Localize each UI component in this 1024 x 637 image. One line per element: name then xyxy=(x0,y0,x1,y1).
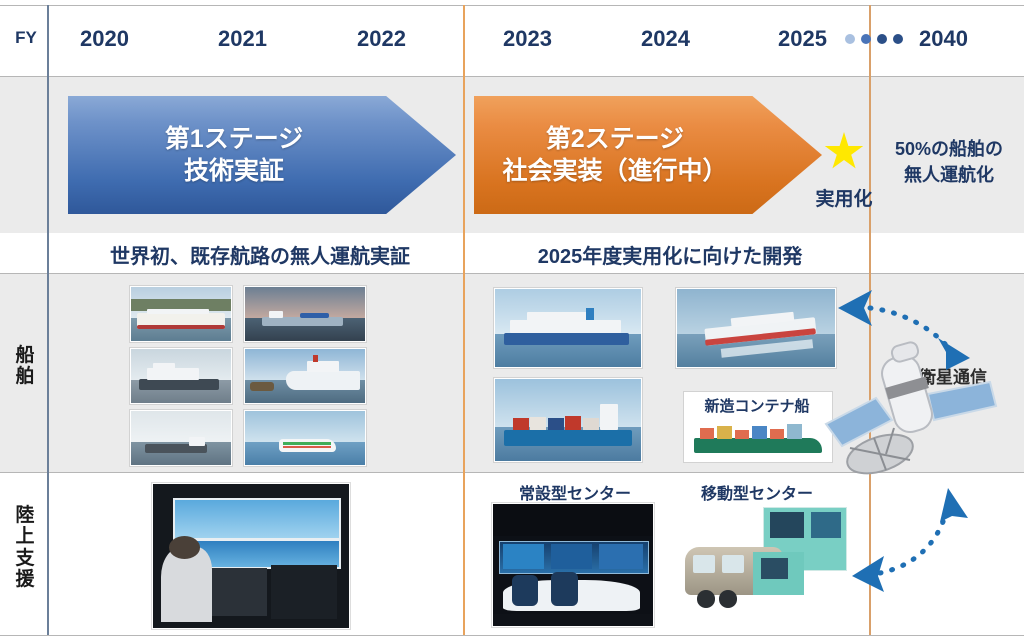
ship-photo-water-bus xyxy=(244,410,366,466)
year-2021: 2021 xyxy=(218,26,267,52)
row-label-shore: 陸 上 支 援 xyxy=(6,505,44,590)
satellite-communication-label: 衛星通信 xyxy=(893,363,1013,388)
year-2025: 2025 xyxy=(778,26,827,52)
divider-2025 xyxy=(869,5,871,635)
ellipsis-dot xyxy=(893,34,903,44)
ship-photo-imoto-lines-container-ship xyxy=(494,378,642,462)
mobile-trailer-center-photo xyxy=(678,505,848,623)
mobile-center-label: 移動型センター xyxy=(672,480,842,504)
row-label-char: 上 xyxy=(6,526,44,547)
fy-label: FY xyxy=(8,28,44,48)
stage-1-title: 第1ステージ 技術実証 xyxy=(165,123,303,188)
row-label-char: 援 xyxy=(6,569,44,590)
ship-photo-large-white-ferry xyxy=(244,348,366,404)
row-label-char: 舶 xyxy=(6,366,44,387)
stage-1-caption: 世界初、既存航路の無人運航実証 xyxy=(60,240,460,269)
ellipsis-dot xyxy=(845,34,855,44)
operation-center-interior-photo xyxy=(492,503,654,627)
stage-1-arrow: 第1ステージ 技術実証 xyxy=(68,96,456,214)
ship-photo-large-passenger-ferry xyxy=(494,288,642,368)
row-label-char: 支 xyxy=(6,548,44,569)
year-2022: 2022 xyxy=(357,26,406,52)
year-2040: 2040 xyxy=(919,26,968,52)
divider-fy-column xyxy=(47,5,49,635)
ellipsis-dot xyxy=(861,34,871,44)
divider-stage-split xyxy=(463,5,465,635)
stage-2-arrow: 第2ステージ 社会実装（進行中） xyxy=(474,96,822,214)
row-label-char: 船 xyxy=(6,345,44,366)
goal-text: 50%の船舶の 無人運航化 xyxy=(876,136,1022,188)
permanent-center-label: 常設型センター xyxy=(500,480,650,504)
ship-photo-aerial-ferry xyxy=(676,288,836,368)
ship-photo-ro-ro-ferry xyxy=(130,286,232,342)
year-2024: 2024 xyxy=(641,26,690,52)
ellipsis-dots-icon xyxy=(845,34,903,44)
year-2020: 2020 xyxy=(80,26,129,52)
divider-bottom xyxy=(0,635,1024,636)
ship-bridge-operation-room-photo xyxy=(152,483,350,629)
row-label-ships: 船 舶 xyxy=(6,345,44,388)
ellipsis-dot xyxy=(877,34,887,44)
row-label-char: 陸 xyxy=(6,505,44,526)
new-container-ship-label: 新造コンテナ船 xyxy=(684,392,830,416)
ship-photo-container-vessel xyxy=(244,286,366,342)
ship-photo-cargo-ship xyxy=(130,410,232,466)
stage-2-caption: 2025年度実用化に向けた開発 xyxy=(470,240,870,269)
stage-2-title: 第2ステージ 社会実装（進行中） xyxy=(502,123,727,188)
ship-photo-small-passenger-ferry xyxy=(130,348,232,404)
year-2023: 2023 xyxy=(503,26,552,52)
roadmap-diagram: FY 2020 2021 2022 2023 2024 2025 2040 第1… xyxy=(0,0,1024,637)
